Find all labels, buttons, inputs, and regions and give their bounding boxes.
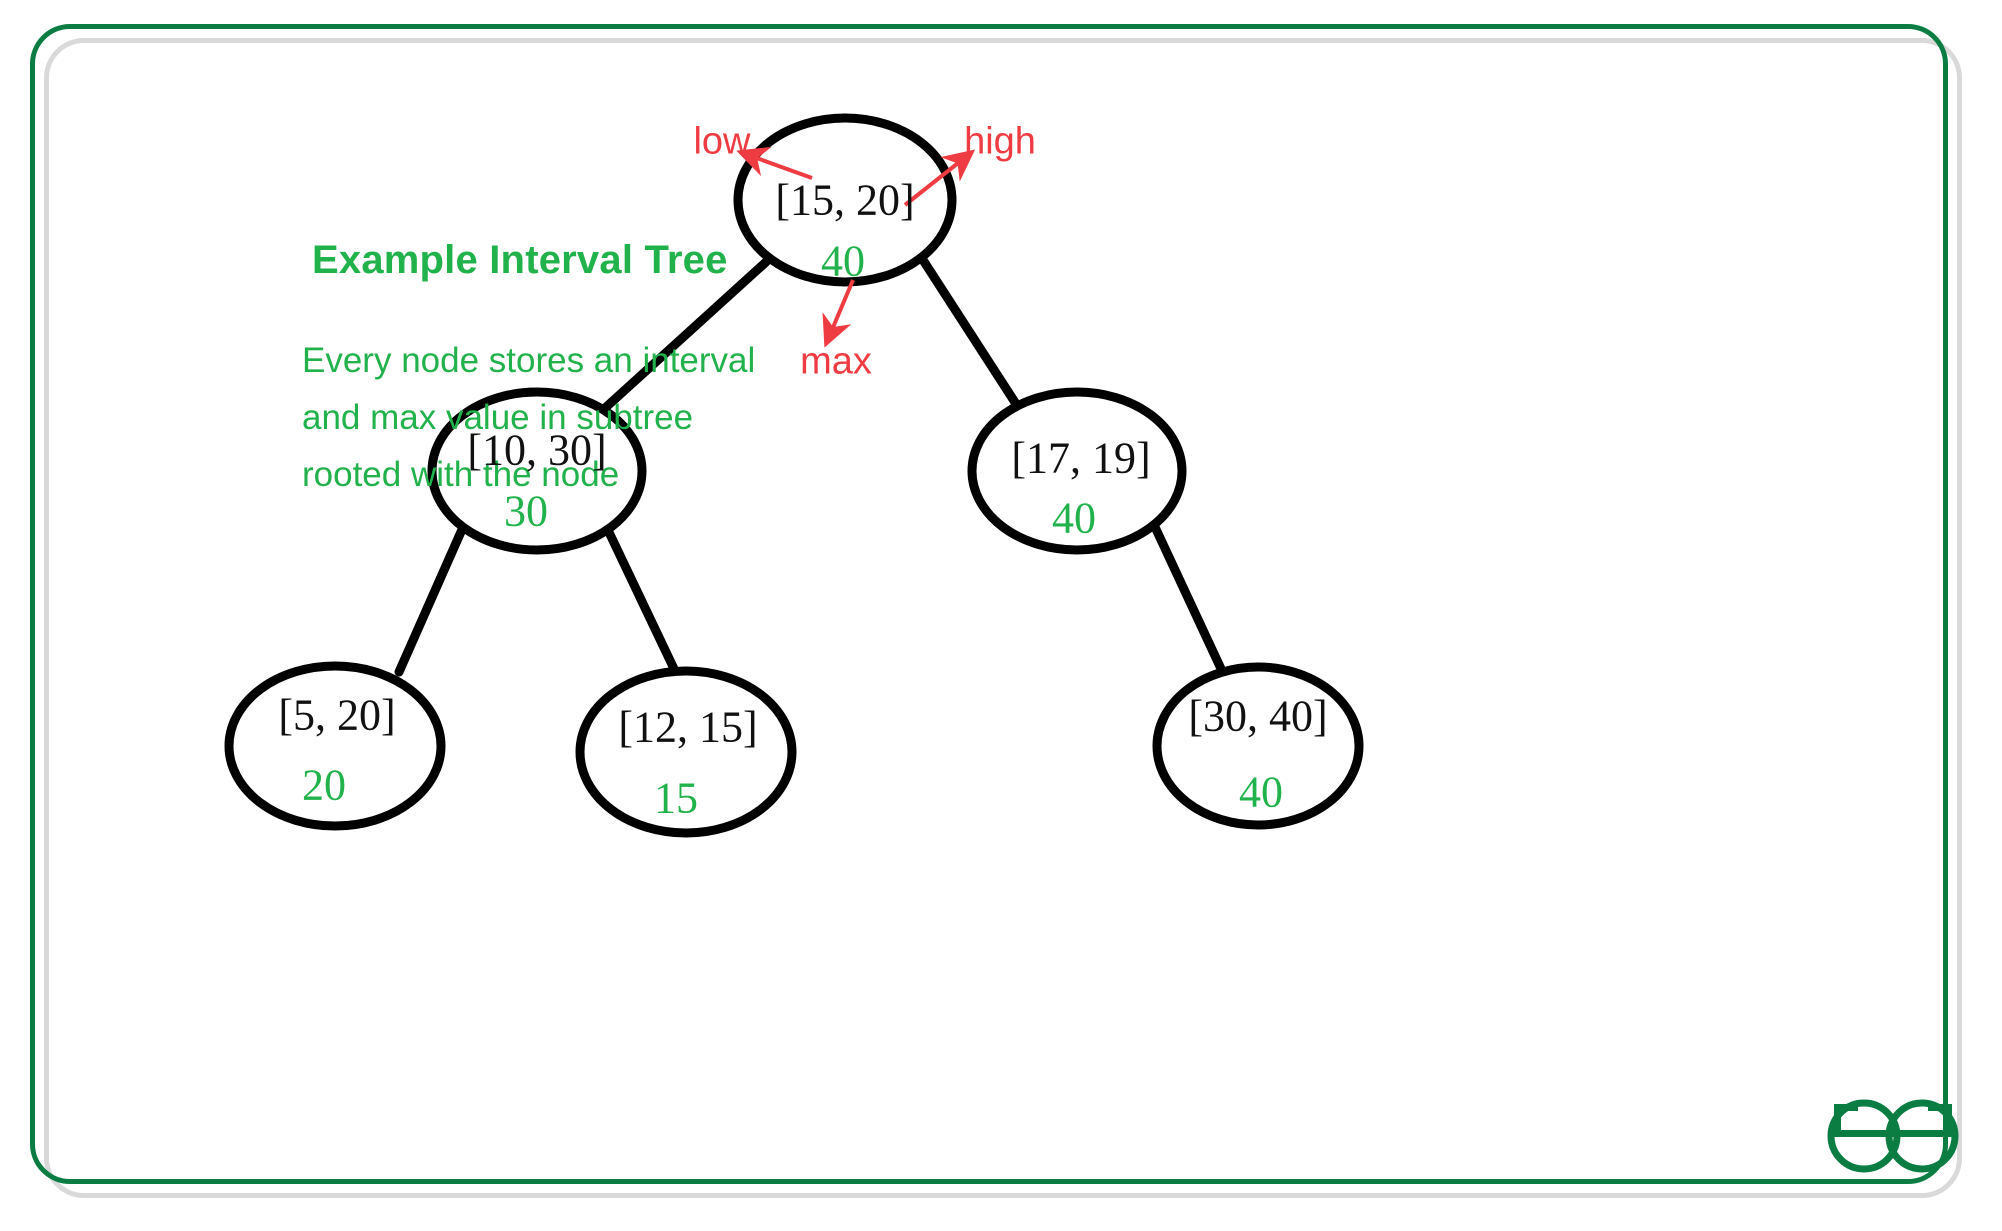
node-interval-left-right: [12, 15]	[618, 702, 757, 753]
annotation-label-low: low	[693, 121, 750, 164]
annotation-label-max: max	[800, 341, 872, 384]
diagram-canvas: Example Interval Tree Every node stores …	[0, 0, 2002, 1231]
page-title: Example Interval Tree	[312, 238, 728, 283]
tree-edge-left-to-left-right	[607, 528, 676, 673]
node-max-left-left: 20	[302, 760, 346, 811]
node-max-root: 40	[821, 236, 865, 287]
node-max-right-right: 40	[1239, 767, 1283, 818]
tree-edge-left-to-left-left	[399, 525, 464, 672]
node-interval-right: [17, 19]	[1011, 433, 1150, 484]
node-max-right: 40	[1052, 493, 1096, 544]
node-max-left: 30	[504, 486, 548, 537]
node-interval-root: [15, 20]	[775, 175, 914, 226]
tree-graphics	[0, 0, 2002, 1231]
node-interval-left-left: [5, 20]	[278, 690, 395, 741]
annotation-label-high: high	[964, 121, 1036, 164]
node-interval-right-right: [30, 40]	[1188, 691, 1327, 742]
node-max-left-right: 15	[654, 773, 698, 824]
tree-edge-root-to-right	[923, 260, 1018, 407]
max-pointer	[826, 280, 853, 344]
legend-line-1: Every node stores an interval	[302, 332, 755, 389]
geeksforgeeks-logo	[1818, 1074, 1968, 1184]
tree-edge-right-to-right-right	[1155, 527, 1223, 673]
legend-description: Every node stores an interval and max va…	[302, 332, 755, 503]
node-interval-left: [10, 30]	[467, 425, 606, 476]
